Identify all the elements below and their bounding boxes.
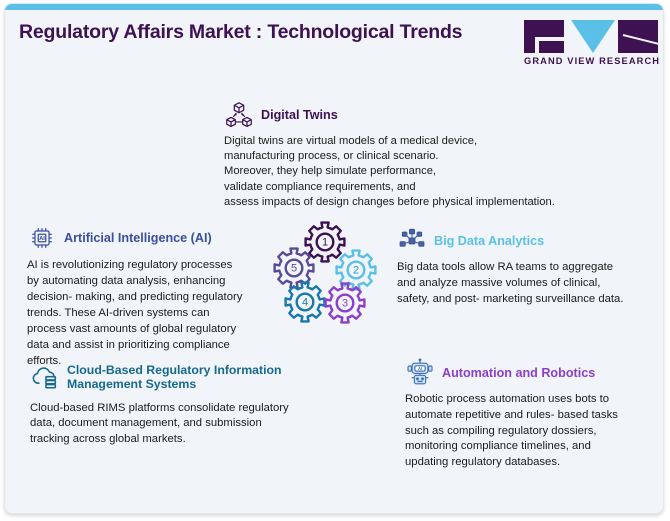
gear-4: 4 <box>286 283 325 322</box>
logo-wordmark: GRAND VIEW RESEARCH <box>524 56 658 66</box>
block-artificial-intelligence: AI Artificial Intelligence (AI) AI is re… <box>27 223 277 369</box>
block-big-data-analytics-head: Big Data Analytics <box>397 226 645 256</box>
block-automation-and-robotics-body: Robotic process automation uses bots to … <box>405 392 650 471</box>
svg-text:3: 3 <box>342 297 348 309</box>
ai-chip-icon: AI <box>27 223 57 253</box>
block-artificial-intelligence-body: AI is revolutionizing regulatory process… <box>27 257 277 369</box>
block-automation-and-robotics-head: AI Automation and Robotics <box>405 358 650 388</box>
block-automation-and-robotics-title: Automation and Robotics <box>442 366 595 380</box>
block-big-data-analytics-body: Big data tools allow RA teams to aggrega… <box>397 260 645 307</box>
gear-1: 1 <box>306 223 345 262</box>
cloud-database-icon <box>30 363 60 393</box>
grand-view-research-logo: GRAND VIEW RESEARCH <box>524 20 658 68</box>
logo-g-shape-icon <box>524 20 564 53</box>
logo-marks <box>524 20 658 53</box>
block-digital-twins-title: Digital Twins <box>261 108 338 122</box>
connected-cubes-icon <box>224 100 254 130</box>
robot-icon: AI <box>405 358 435 388</box>
block-automation-and-robotics: AI Automation and Robotics Robotic proce… <box>405 358 650 471</box>
block-artificial-intelligence-head: AI Artificial Intelligence (AI) <box>27 223 277 253</box>
block-cloud-based-rims-head: Cloud-Based Regulatory Information Manag… <box>30 363 305 393</box>
block-cloud-based-rims-body: Cloud-based RIMS platforms consolidate r… <box>30 401 305 447</box>
network-nodes-icon <box>397 226 427 256</box>
accent-top-bar <box>5 4 664 10</box>
block-digital-twins: Digital Twins Digital twins are virtual … <box>224 100 624 210</box>
gears-svg: 5 1 2 <box>267 216 383 328</box>
block-cloud-based-rims: Cloud-Based Regulatory Information Manag… <box>30 363 305 447</box>
logo-r-shape-icon <box>618 20 658 53</box>
page-title: Regulatory Affairs Market : Technologica… <box>19 21 462 44</box>
block-big-data-analytics: Big Data Analytics Big data tools allow … <box>397 226 645 307</box>
numbered-gears-cluster: 5 1 2 <box>267 216 383 328</box>
svg-text:AI: AI <box>39 236 45 242</box>
block-digital-twins-head: Digital Twins <box>224 100 624 130</box>
block-big-data-analytics-title: Big Data Analytics <box>434 234 544 248</box>
logo-v-triangle-icon <box>571 20 615 53</box>
block-artificial-intelligence-title: Artificial Intelligence (AI) <box>64 231 212 245</box>
svg-text:1: 1 <box>322 236 328 248</box>
infographic-card: Regulatory Affairs Market : Technologica… <box>4 3 664 514</box>
gear-3: 3 <box>326 284 365 323</box>
svg-text:5: 5 <box>291 262 297 274</box>
svg-text:4: 4 <box>302 296 308 308</box>
infographic-root: Regulatory Affairs Market : Technologica… <box>0 0 670 521</box>
block-digital-twins-body: Digital twins are virtual models of a me… <box>224 134 624 210</box>
svg-text:2: 2 <box>353 264 359 276</box>
block-cloud-based-rims-title: Cloud-Based Regulatory Information Manag… <box>67 364 282 392</box>
svg-text:AI: AI <box>418 366 422 371</box>
